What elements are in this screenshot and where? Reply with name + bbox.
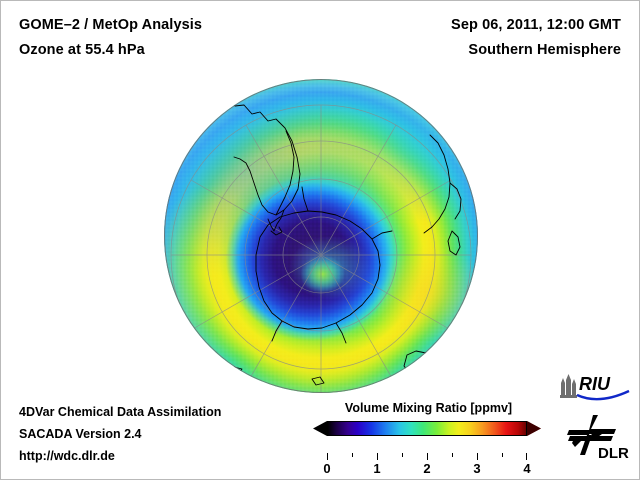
quantity-title: Ozone at 55.4 hPa xyxy=(19,38,202,63)
colorbar-ticks xyxy=(327,453,527,461)
riu-spires-icon xyxy=(560,374,577,398)
colorbar-label-2: 2 xyxy=(423,461,430,476)
colorbar-tick-labels: 0 1 2 3 4 xyxy=(327,461,527,479)
header-left: GOME–2 / MetOp Analysis Ozone at 55.4 hP… xyxy=(19,13,202,63)
colorbar-label-1: 1 xyxy=(373,461,380,476)
dlr-logo: DLR xyxy=(567,413,633,469)
riu-wordmark: RIU xyxy=(579,374,611,394)
colorbar: Volume Mixing Ratio [ppmv] 0 1 2 xyxy=(306,401,551,480)
globe-disc xyxy=(164,79,478,393)
colorbar-gradient xyxy=(327,421,527,436)
header-right: Sep 06, 2011, 12:00 GMT Southern Hemisph… xyxy=(451,13,621,63)
figure-canvas: GOME–2 / MetOp Analysis Ozone at 55.4 hP… xyxy=(1,1,639,479)
method-label: 4DVar Chemical Data Assimilation xyxy=(19,401,221,423)
riu-logo: RIU xyxy=(557,371,633,405)
globe-limb xyxy=(164,79,478,393)
colorbar-label-0: 0 xyxy=(323,461,330,476)
colorbar-title: Volume Mixing Ratio [ppmv] xyxy=(306,401,551,415)
region-label: Southern Hemisphere xyxy=(451,38,621,63)
footer-text: 4DVar Chemical Data Assimilation SACADA … xyxy=(19,401,221,467)
version-label: SACADA Version 2.4 xyxy=(19,423,221,445)
ozone-map xyxy=(164,79,478,393)
colorbar-high-extend-arrow xyxy=(527,421,541,436)
instrument-title: GOME–2 / MetOp Analysis xyxy=(19,13,202,38)
dlr-wordmark: DLR xyxy=(598,445,629,462)
datetime-label: Sep 06, 2011, 12:00 GMT xyxy=(451,13,621,38)
colorbar-label-3: 3 xyxy=(473,461,480,476)
colorbar-low-extend-arrow xyxy=(313,421,327,436)
colorbar-label-4: 4 xyxy=(523,461,530,476)
data-centre-url: http://wdc.dlr.de xyxy=(19,445,221,467)
